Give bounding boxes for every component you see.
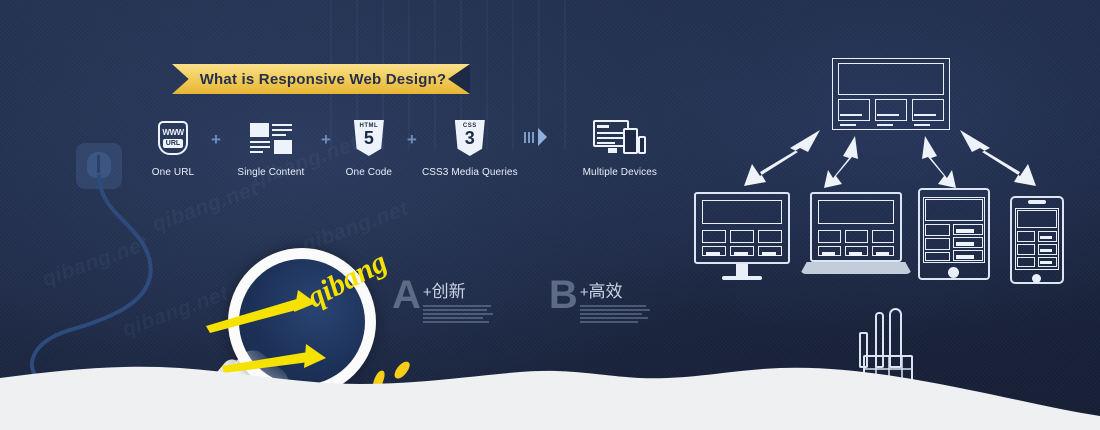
tablet-wireframe (918, 188, 996, 288)
feature-label: One URL (152, 167, 194, 178)
highlight-keyword-text: 高效 (589, 282, 623, 301)
hero-banner: qibang.net qibang.net qibang.net qibang.… (0, 0, 1100, 430)
highlight-keyword-text: 创新 (432, 282, 466, 301)
css3-shield-icon: CSS 3 (455, 118, 485, 158)
feature-label: One Code (346, 167, 392, 178)
highlight-keyword: +创新 (423, 277, 493, 302)
feature-single-content[interactable]: Single Content (222, 118, 320, 178)
plug-icon (87, 152, 111, 178)
master-layout-wireframe (832, 58, 950, 130)
flow-arrow-icon (524, 128, 556, 146)
brand-script: qibang (302, 248, 388, 314)
multiple-devices-icon (593, 118, 647, 158)
feature-label: Multiple Devices (583, 167, 657, 178)
url-shield-bottom-label: URL (163, 139, 183, 148)
arrow-to-tablet (922, 136, 956, 188)
feature-label: CSS3 Media Queries (422, 167, 518, 178)
highlight-plus: + (423, 284, 432, 301)
laptop-wireframe (800, 192, 916, 287)
feature-row: WWW URL One URL + Single C (136, 118, 672, 178)
watermark: qibang.net (149, 177, 262, 238)
phone-wireframe (1010, 196, 1072, 292)
feature-one-url[interactable]: WWW URL One URL (136, 118, 210, 178)
url-shield-top-label: WWW (162, 129, 183, 137)
arrow-to-desktop (744, 130, 820, 186)
plus-separator: + (211, 130, 221, 150)
highlight-plus: + (580, 284, 589, 301)
highlight-letter: A (392, 277, 421, 313)
feature-css3-media-queries[interactable]: CSS 3 CSS3 Media Queries (418, 118, 522, 178)
feature-multiple-devices[interactable]: Multiple Devices (568, 118, 672, 178)
desktop-monitor-wireframe (694, 192, 804, 287)
plus-separator: + (321, 130, 331, 150)
html5-version: 5 (364, 130, 374, 147)
highlight-letter: B (549, 277, 578, 313)
bottom-wave (0, 310, 1100, 430)
plus-separator: + (407, 130, 417, 150)
url-shield-icon: WWW URL (158, 118, 188, 158)
feature-label: Single Content (237, 167, 304, 178)
arrow-to-phone (960, 130, 1036, 186)
css3-version: 3 (465, 130, 475, 147)
page-title: What is Responsive Web Design? (188, 71, 455, 88)
headline-ribbon: What is Responsive Web Design? (172, 64, 470, 94)
html5-shield-icon: HTML 5 (354, 118, 384, 158)
content-blocks-icon (250, 118, 292, 158)
arrow-to-laptop (824, 136, 858, 188)
highlight-keyword: +高效 (580, 277, 650, 302)
feature-one-code[interactable]: HTML 5 One Code (332, 118, 406, 178)
